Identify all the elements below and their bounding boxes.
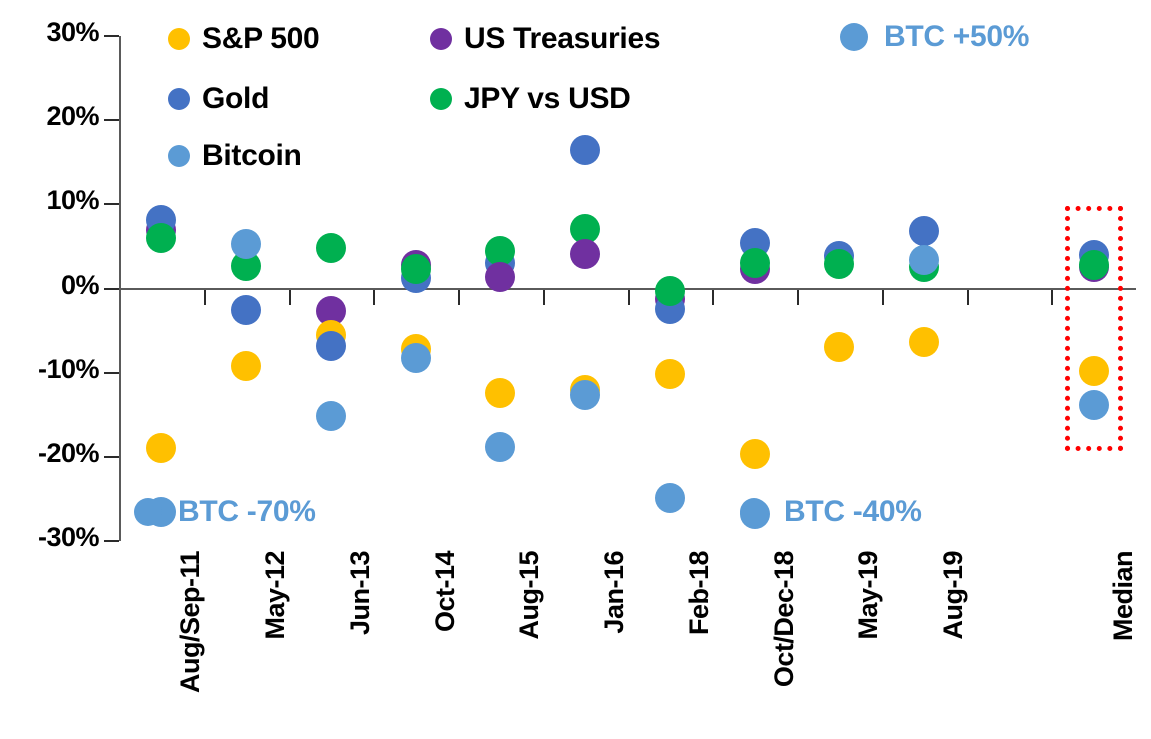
x-axis-tick [1051, 290, 1053, 305]
x-axis-tick [458, 290, 460, 305]
data-point-marker [1079, 390, 1109, 420]
y-axis-tick-label: -20% [38, 438, 99, 469]
x-axis-tick-label: Jun-13 [345, 551, 376, 635]
legend-item-jpy-vs-usd[interactable]: JPY vs USD [430, 82, 631, 116]
legend-swatch-icon [168, 145, 190, 167]
legend-item-label: JPY vs USD [464, 82, 631, 116]
x-axis-tick-label: Aug-15 [514, 551, 545, 640]
annotation-label: BTC -70% [178, 495, 316, 529]
data-point-marker [485, 262, 515, 292]
x-axis-tick-label: May-12 [260, 551, 291, 640]
y-axis-tick-label: 10% [46, 185, 99, 216]
x-axis-tick-label: May-19 [853, 551, 884, 640]
legend-item-label: US Treasuries [464, 22, 660, 56]
scatter-chart: 30%20%10%0%-10%-20%-30% Aug/Sep-11May-12… [0, 0, 1151, 739]
y-axis-tick [104, 35, 119, 37]
legend-item-label: Bitcoin [202, 139, 302, 173]
x-axis-tick [712, 290, 714, 305]
x-axis-tick-label: Oct/Dec-18 [769, 551, 800, 687]
x-axis-tick [967, 290, 969, 305]
x-axis-tick-label: Median [1108, 551, 1139, 641]
data-point-marker [909, 327, 939, 357]
data-point-marker [1079, 250, 1109, 280]
annotation-btc-minus-40: BTC -40% [740, 495, 922, 529]
data-point-marker [570, 239, 600, 269]
x-axis-tick-label: Aug/Sep-11 [175, 551, 206, 693]
legend-item-label: S&P 500 [202, 22, 319, 56]
legend-item-s-p-500[interactable]: S&P 500 [168, 22, 319, 56]
data-point-marker [1079, 356, 1109, 386]
y-axis-tick [104, 203, 119, 205]
data-point-marker [909, 216, 939, 246]
data-point-marker [316, 331, 346, 361]
x-axis-tick [797, 290, 799, 305]
data-point-marker [401, 343, 431, 373]
bitcoin-dot-icon [840, 23, 868, 51]
data-point-marker [146, 433, 176, 463]
x-axis-tick-label: Aug-19 [938, 551, 969, 640]
x-axis-tick [204, 290, 206, 305]
data-point-marker [231, 351, 261, 381]
data-point-marker [485, 378, 515, 408]
data-point-marker [655, 359, 685, 389]
y-axis-tick [104, 456, 119, 458]
y-axis-tick [104, 372, 119, 374]
data-point-marker [485, 432, 515, 462]
data-point-marker [231, 295, 261, 325]
x-axis-tick-label: Oct-14 [430, 551, 461, 632]
data-point-marker [824, 249, 854, 279]
x-axis-tick-label: Jan-16 [599, 551, 630, 634]
annotation-label: BTC +50% [884, 20, 1029, 54]
x-axis-tick [373, 290, 375, 305]
legend-item-label: Gold [202, 82, 269, 116]
data-point-marker [146, 223, 176, 253]
legend-item-us-treasuries[interactable]: US Treasuries [430, 22, 660, 56]
y-axis-tick-label: -10% [38, 354, 99, 385]
legend-item-gold[interactable]: Gold [168, 82, 269, 116]
legend-swatch-icon [168, 28, 190, 50]
x-axis-tick [882, 290, 884, 305]
legend-swatch-icon [430, 88, 452, 110]
x-axis-tick [543, 290, 545, 305]
data-point-marker [655, 483, 685, 513]
data-point-marker [570, 380, 600, 410]
y-axis-tick-label: 30% [46, 17, 99, 48]
y-axis-tick-label: 0% [61, 270, 99, 301]
y-axis-tick-label: -30% [38, 522, 99, 553]
data-point-marker [824, 332, 854, 362]
data-point-marker [655, 276, 685, 306]
data-point-marker [740, 439, 770, 469]
bitcoin-dot-icon [740, 498, 768, 526]
legend-item-bitcoin[interactable]: Bitcoin [168, 139, 302, 173]
y-axis-tick [104, 540, 119, 542]
x-axis-tick [289, 290, 291, 305]
x-axis-tick-label: Feb-18 [684, 551, 715, 635]
bitcoin-dot-icon [134, 498, 162, 526]
annotation-btc-minus-70: BTC -70% [134, 495, 316, 529]
y-axis-tick [104, 288, 119, 290]
legend-swatch-icon [168, 88, 190, 110]
annotation-btc-plus-50: BTC +50% [840, 20, 1029, 54]
data-point-marker [570, 135, 600, 165]
data-point-marker [909, 245, 939, 275]
data-point-marker [316, 233, 346, 263]
data-point-marker [231, 229, 261, 259]
x-axis-tick [628, 290, 630, 305]
data-point-marker [740, 248, 770, 278]
legend-swatch-icon [430, 28, 452, 50]
data-point-marker [401, 254, 431, 284]
y-axis-tick [104, 119, 119, 121]
y-axis-tick-label: 20% [46, 101, 99, 132]
annotation-label: BTC -40% [784, 495, 922, 529]
data-point-marker [316, 401, 346, 431]
